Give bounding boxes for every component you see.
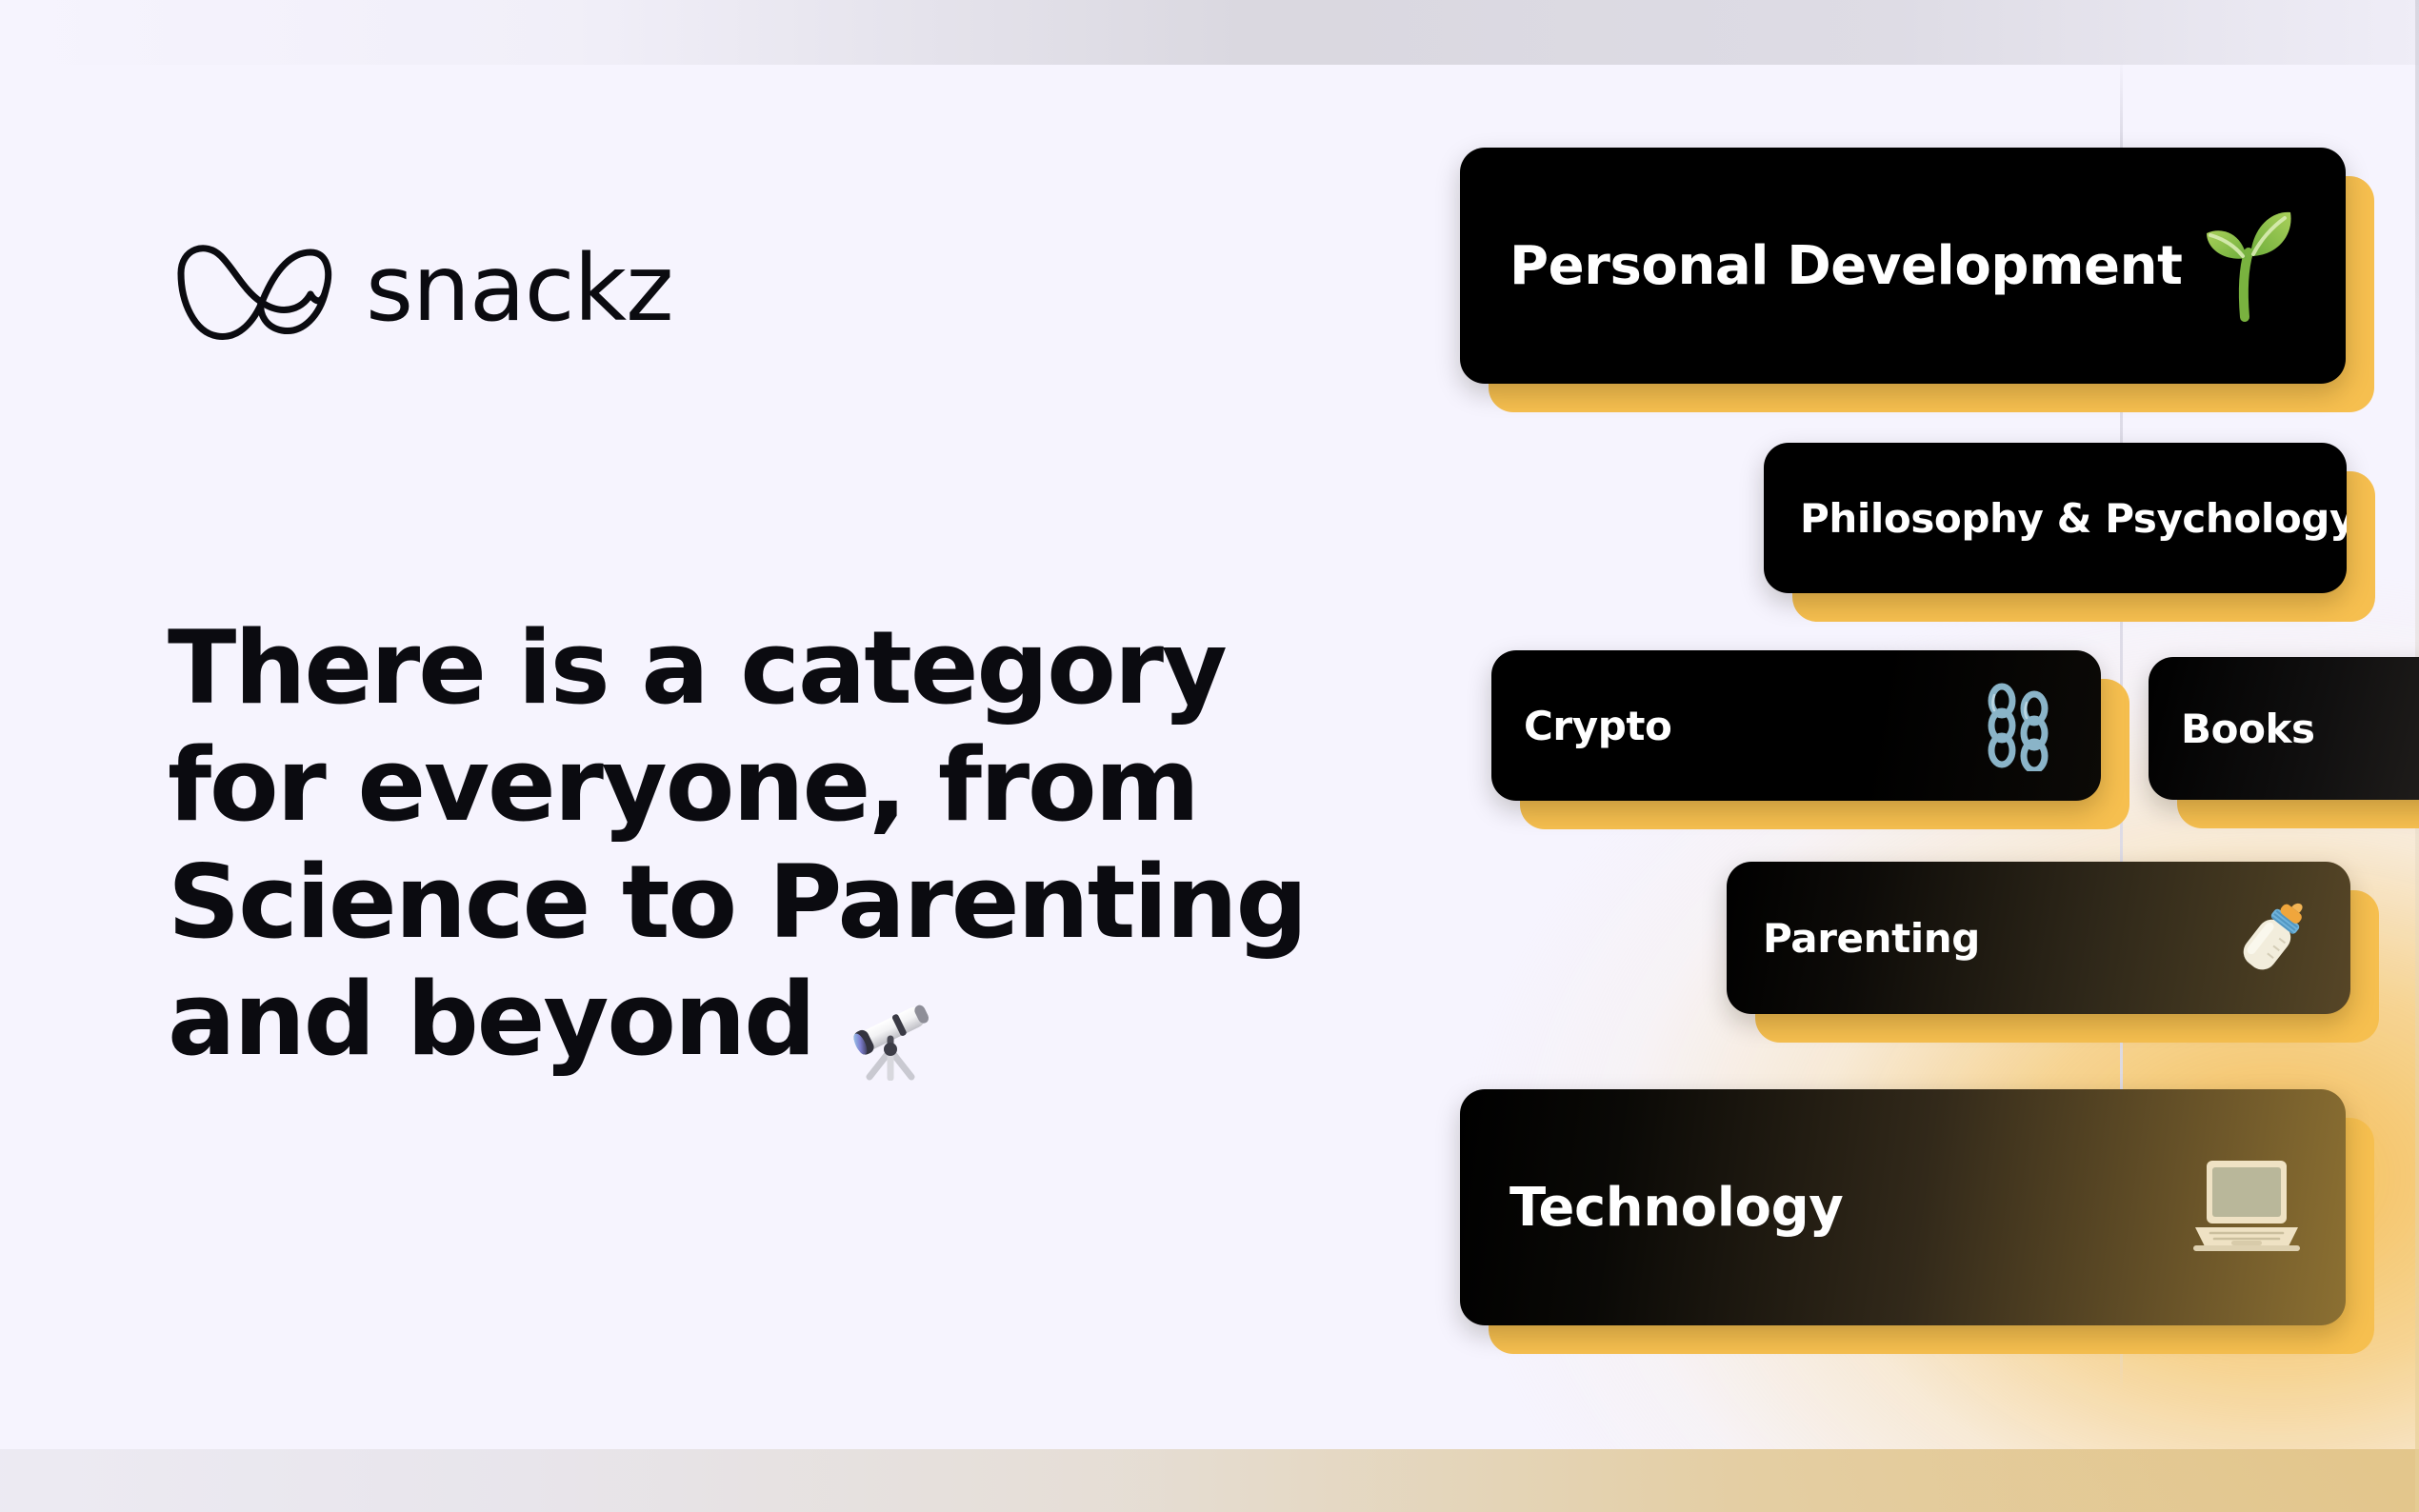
hero-left-column: snackz There is a category for everyone,… bbox=[0, 0, 1390, 1512]
category-label: Personal Development bbox=[1509, 235, 2182, 297]
category-card-philosophy-psychology[interactable]: Philosophy & Psychology bbox=[1764, 443, 2347, 593]
category-label: Philosophy & Psychology bbox=[1800, 495, 2347, 542]
headline-line-4: and beyond bbox=[168, 961, 814, 1078]
category-card-books[interactable]: Books bbox=[2149, 657, 2419, 800]
headline-line-1: There is a category bbox=[168, 609, 1226, 726]
telescope-emoji bbox=[828, 975, 932, 1066]
chains-emoji bbox=[1973, 680, 2065, 771]
brand-name: snackz bbox=[366, 243, 672, 334]
card-surface[interactable]: Crypto bbox=[1491, 650, 2101, 801]
laptop-emoji bbox=[2186, 1151, 2308, 1263]
category-card-technology[interactable]: Technology bbox=[1460, 1089, 2346, 1325]
baby-bottle-emoji bbox=[2223, 888, 2322, 987]
brand-lockup[interactable]: snackz bbox=[168, 231, 672, 346]
category-card-parenting[interactable]: Parenting bbox=[1727, 862, 2350, 1014]
category-label: Crypto bbox=[1524, 703, 1672, 749]
seedling-emoji bbox=[2182, 203, 2308, 328]
page-headline: There is a category for everyone, from S… bbox=[168, 610, 1387, 1079]
snackz-wave-mark-icon bbox=[168, 231, 339, 346]
page-root: snackz There is a category for everyone,… bbox=[0, 0, 2419, 1512]
card-surface[interactable]: Philosophy & Psychology bbox=[1764, 443, 2347, 593]
headline-line-3: Science to Parenting bbox=[168, 844, 1306, 961]
category-card-personal-development[interactable]: Personal Development bbox=[1460, 148, 2346, 384]
category-card-crypto[interactable]: Crypto bbox=[1491, 650, 2101, 801]
headline-line-2: for everyone, from bbox=[168, 726, 1198, 844]
card-surface[interactable]: Technology bbox=[1460, 1089, 2346, 1325]
category-label: Parenting bbox=[1763, 915, 1980, 962]
card-surface[interactable]: Personal Development bbox=[1460, 148, 2346, 384]
category-label: Books bbox=[2181, 706, 2315, 752]
card-surface[interactable]: Books bbox=[2149, 657, 2419, 800]
category-label: Technology bbox=[1509, 1177, 1843, 1239]
card-surface[interactable]: Parenting bbox=[1727, 862, 2350, 1014]
